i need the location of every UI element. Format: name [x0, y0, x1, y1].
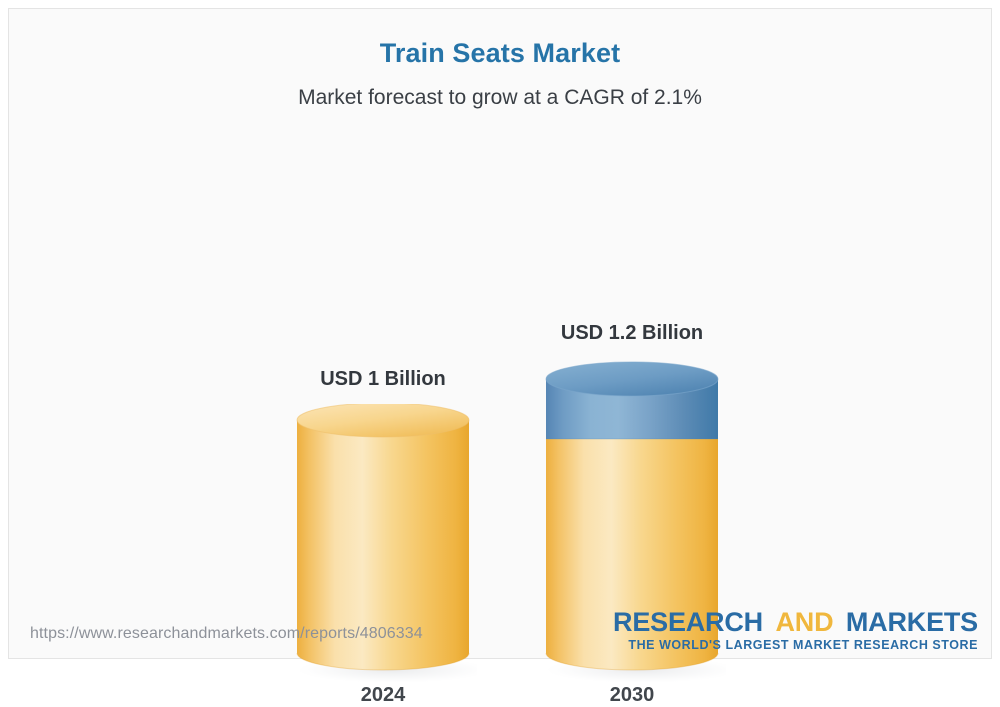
category-label-2024: 2024 [289, 684, 477, 707]
chart-canvas: Train Seats Market Market forecast to gr… [0, 0, 1000, 667]
logo-space-1 [763, 607, 776, 637]
report-url[interactable]: https://www.researchandmarkets.com/repor… [30, 625, 423, 643]
logo-tagline: THE WORLD'S LARGEST MARKET RESEARCH STOR… [613, 638, 978, 652]
value-label-2030: USD 1.2 Billion [538, 322, 726, 345]
bar-group-2030: USD 1.2 Billion [538, 159, 726, 659]
logo-markets-text: MARKETS [846, 607, 978, 637]
research-and-markets-logo[interactable]: RESEARCH AND MARKETS THE WORLD'S LARGEST… [613, 608, 978, 652]
logo-space-2 [833, 607, 846, 637]
chart-plot-area: USD 1 Billion [8, 8, 992, 659]
logo-and-text: AND [775, 607, 833, 637]
logo-wordmark: RESEARCH AND MARKETS [613, 608, 978, 636]
bar-group-2024: USD 1 Billion [289, 159, 477, 659]
category-label-2030: 2030 [538, 684, 726, 707]
value-label-2024: USD 1 Billion [289, 368, 477, 391]
logo-research-text: RESEARCH [613, 607, 763, 637]
